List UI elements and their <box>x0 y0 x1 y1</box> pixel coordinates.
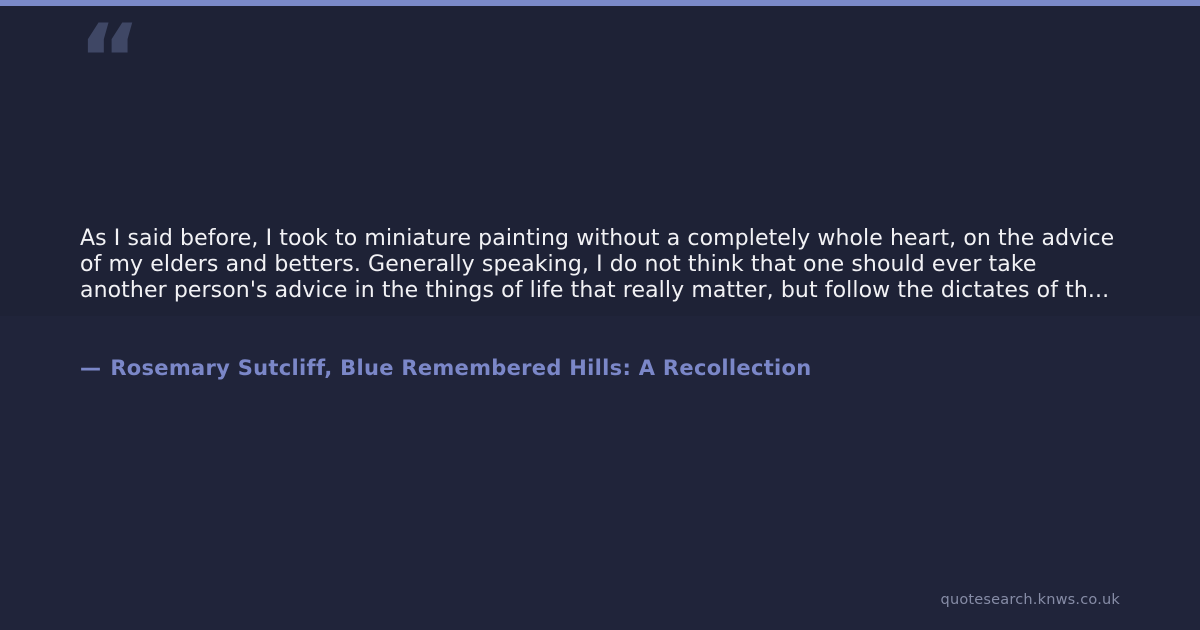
quote-card: “ As I said before, I took to miniature … <box>0 0 1200 630</box>
footer-site-url: quotesearch.knws.co.uk <box>941 592 1120 608</box>
attribution-separator: , <box>324 356 340 380</box>
attribution-dash: — <box>80 356 101 380</box>
attribution-author: Rosemary Sutcliff <box>110 356 324 380</box>
quotation-mark-icon: “ <box>78 12 139 108</box>
attribution-work-title: Blue Remembered Hills: A Recollection <box>340 356 811 380</box>
quote-text: As I said before, I took to miniature pa… <box>80 226 1115 303</box>
card-content: “ As I said before, I took to miniature … <box>0 0 1200 630</box>
attribution-author-and-work: Rosemary Sutcliff, Blue Remembered Hills… <box>110 356 811 380</box>
quote-attribution: —Rosemary Sutcliff, Blue Remembered Hill… <box>80 355 812 381</box>
